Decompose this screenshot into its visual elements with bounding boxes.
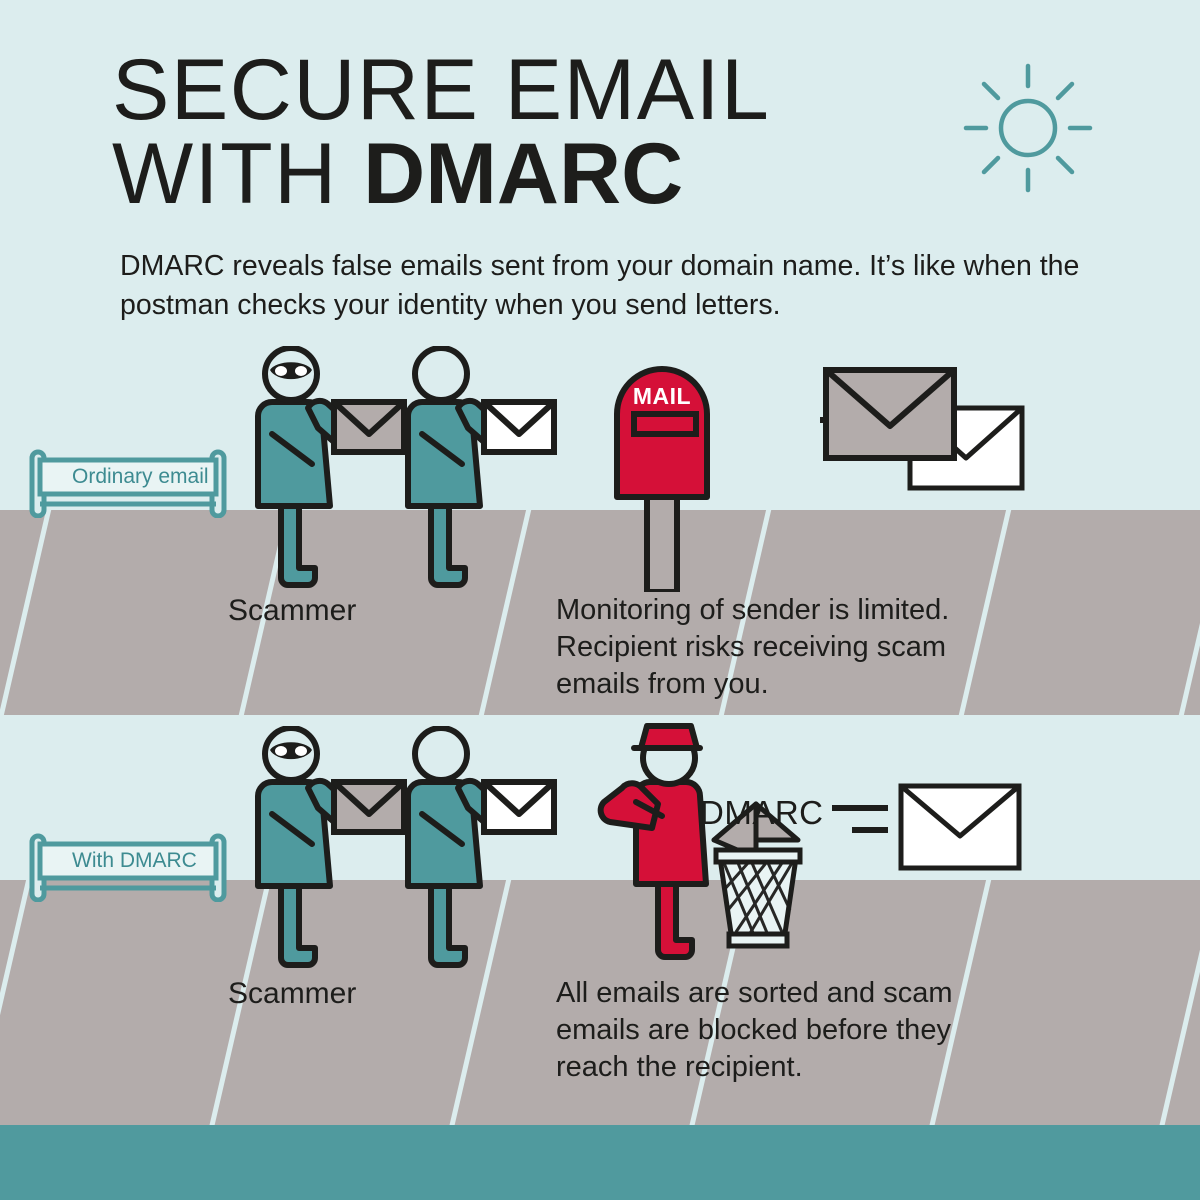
caption-with-dmarc: All emails are sorted and scam emails ar…	[556, 975, 1026, 1086]
caption-ordinary-email: Monitoring of sender is limited. Recipie…	[556, 592, 1026, 703]
mailbox-label: MAIL	[633, 383, 691, 409]
legit-envelope-icon	[484, 402, 554, 452]
title-line-1: SECURE EMAIL	[112, 48, 912, 132]
title-text-secure-email: SECURE EMAIL	[112, 42, 770, 138]
title-line-2: WITH DMARC	[112, 132, 912, 216]
dmarc-inline-label: DMARC	[700, 794, 824, 832]
mailbox-icon: MAIL	[592, 352, 752, 597]
envelope-delivered-icon	[895, 778, 1025, 883]
title-text-dmarc: DMARC	[363, 126, 683, 222]
figure-scammer-ordinary	[246, 346, 416, 601]
footer-band	[0, 1125, 1200, 1200]
title-text-with: WITH	[112, 126, 363, 222]
sign-label-dmarc: With DMARC	[72, 849, 232, 873]
subtitle-text: DMARC reveals false emails sent from you…	[120, 247, 1100, 326]
page-title: SECURE EMAIL WITH DMARC	[112, 48, 912, 217]
sign-with-dmarc: With DMARC	[28, 830, 228, 907]
label-scammer-ordinary: Scammer	[228, 592, 356, 630]
legit-envelope-icon	[484, 782, 554, 832]
figure-postman	[596, 718, 846, 973]
infographic-canvas: SECURE EMAIL WITH DMARC DMARC reveals fa…	[0, 0, 1200, 1200]
sign-label-ordinary: Ordinary email	[72, 465, 232, 489]
figure-scammer-dmarc	[246, 726, 416, 981]
sun-icon	[948, 48, 1108, 213]
speed-lines-dmarc	[830, 798, 900, 848]
figure-sender-dmarc	[396, 726, 566, 981]
scam-envelope-icon	[334, 402, 404, 452]
scam-envelope-front-icon	[826, 370, 954, 458]
scam-envelope-icon	[334, 782, 404, 832]
figure-sender-ordinary	[396, 346, 566, 601]
label-scammer-dmarc: Scammer	[228, 975, 356, 1013]
sign-ordinary-email: Ordinary email	[28, 446, 228, 523]
envelope-pair-ordinary	[812, 360, 1042, 505]
